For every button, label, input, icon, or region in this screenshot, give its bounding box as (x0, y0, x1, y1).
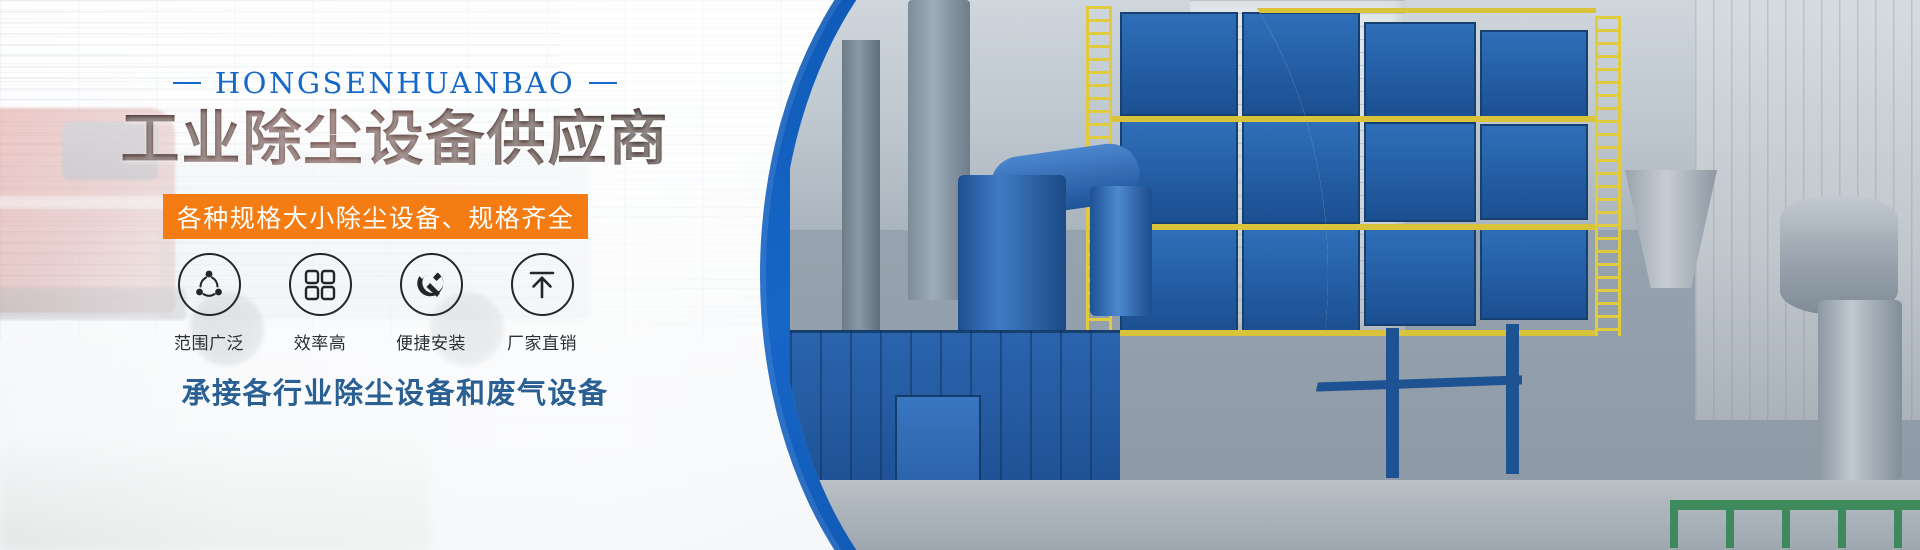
access-ladder (1595, 16, 1621, 336)
tagline: 承接各行业除尘设备和废气设备 (0, 370, 790, 412)
arc-photo-inner (790, 0, 1328, 550)
feature-item-direct-sales[interactable]: 厂家直销 (496, 253, 588, 354)
feature-label: 效率高 (294, 329, 347, 354)
support-leg (1386, 328, 1399, 478)
dash-left-icon (173, 82, 201, 84)
grid-squares-icon (303, 268, 337, 302)
feature-icon-ring (511, 253, 574, 316)
baghouse-module (1364, 122, 1476, 222)
feature-label: 范围广泛 (174, 329, 244, 354)
baghouse-module (1480, 224, 1588, 320)
feature-label: 厂家直销 (507, 329, 577, 354)
green-fence-posts (1670, 504, 1920, 548)
green-fence-rail (1670, 500, 1920, 510)
network-nodes-icon (190, 266, 228, 304)
hero-banner: HONGSENHUANBAO 工业除尘设备供应商 各种规格大小除尘设备、规格齐全 (0, 0, 1920, 550)
feature-icon-ring (289, 253, 352, 316)
grey-cylinder-body (1818, 300, 1902, 480)
up-arrow-icon (525, 268, 559, 302)
page-title: 工业除尘设备供应商 (0, 106, 790, 172)
brand-pinyin: HONGSENHUANBAO (215, 66, 575, 100)
grey-cylinder-top (1780, 195, 1898, 315)
brand-eyebrow: HONGSENHUANBAO (0, 66, 790, 100)
feature-item-coverage[interactable]: 范围广泛 (163, 253, 255, 354)
baghouse-module (1364, 22, 1476, 118)
arc-photo-window (780, 0, 1328, 550)
feature-item-efficiency[interactable]: 效率高 (274, 253, 366, 354)
feature-icon-ring (400, 253, 463, 316)
feature-icon-ring (178, 253, 241, 316)
feature-list: 范围广泛 效率高 (163, 253, 588, 354)
baghouse-module (1480, 124, 1588, 220)
feature-item-installation[interactable]: 便捷安装 (385, 253, 477, 354)
baghouse-module (1364, 226, 1476, 326)
feature-label: 便捷安装 (396, 329, 466, 354)
baghouse-module (1480, 30, 1588, 120)
highlight-bar: 各种规格大小除尘设备、规格齐全 (163, 194, 588, 239)
highlight-bar-text: 各种规格大小除尘设备、规格齐全 (177, 199, 575, 235)
wrench-icon (413, 267, 449, 303)
support-leg (1506, 324, 1519, 474)
dash-right-icon (589, 82, 617, 84)
hero-content: HONGSENHUANBAO 工业除尘设备供应商 各种规格大小除尘设备、规格齐全 (0, 0, 820, 550)
